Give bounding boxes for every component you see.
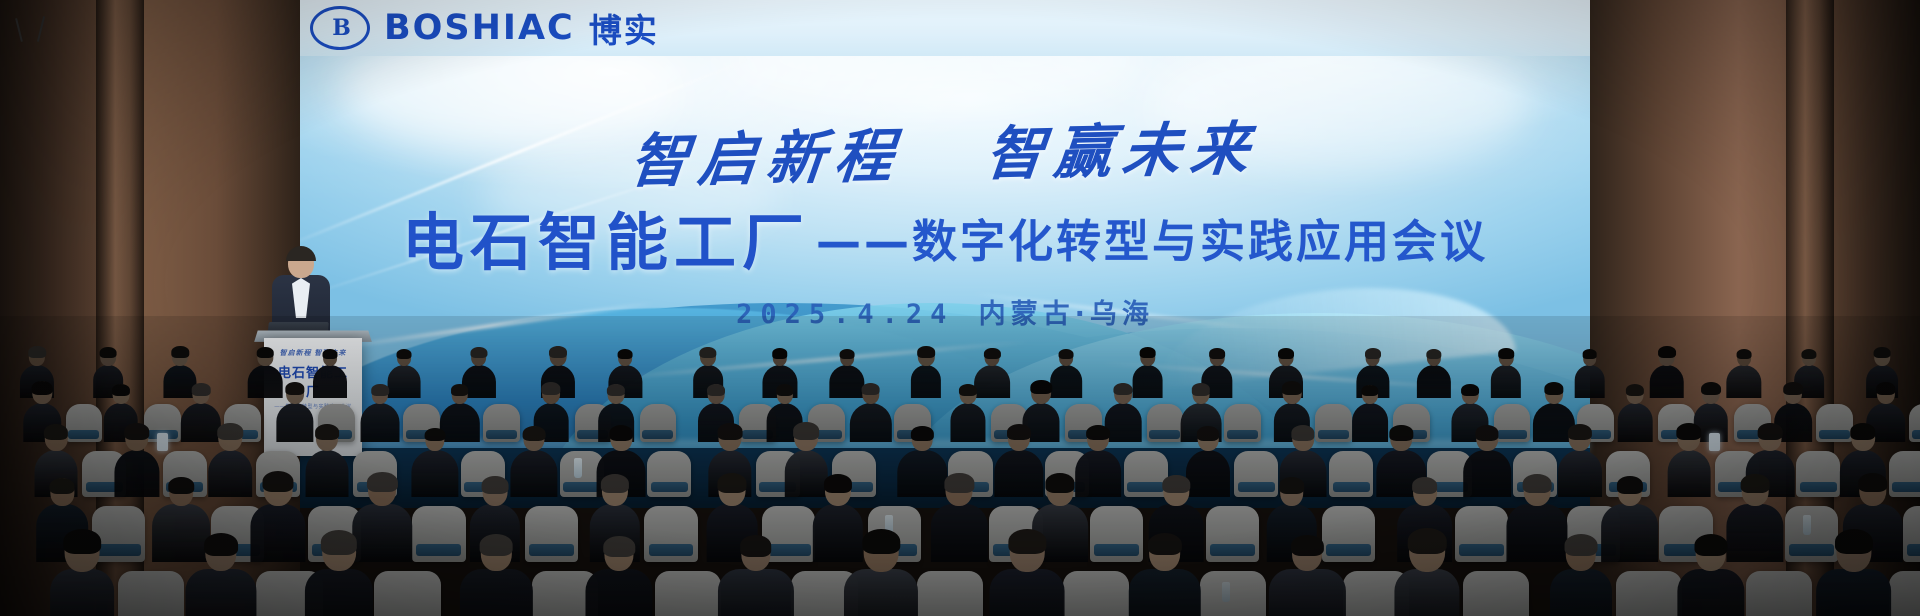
screen-title-sub: ——数字化转型与实践应用会议 <box>816 215 1488 268</box>
brand-name-cn: 博实 <box>589 4 659 52</box>
logo-mark-letter: B <box>332 15 348 41</box>
kicker-right-text: 智赢未来 <box>983 116 1262 187</box>
brand-name-en: BOSHIAC <box>384 8 575 48</box>
screen-logo-bar: B BOSHIAC 博实 <box>300 0 1590 56</box>
screen-title-main: 电石智能工厂 <box>402 206 810 279</box>
kicker-spacer <box>925 175 959 176</box>
audience-shadow-overlay <box>0 316 1920 616</box>
boshiac-logo: B BOSHIAC 博实 <box>310 4 659 52</box>
screen-title-row: 电石智能工厂——数字化转型与实践应用会议 <box>300 192 1590 282</box>
speaker-hair <box>286 246 316 261</box>
boshiac-logo-icon: B <box>310 6 370 50</box>
conference-photo: 智启新程 智赢未来 电石智能工厂——数字化转型与实践应用会议 2025.4.24… <box>0 0 1920 616</box>
audience-area <box>0 316 1920 616</box>
kicker-left-text: 智启新程 <box>627 124 906 195</box>
